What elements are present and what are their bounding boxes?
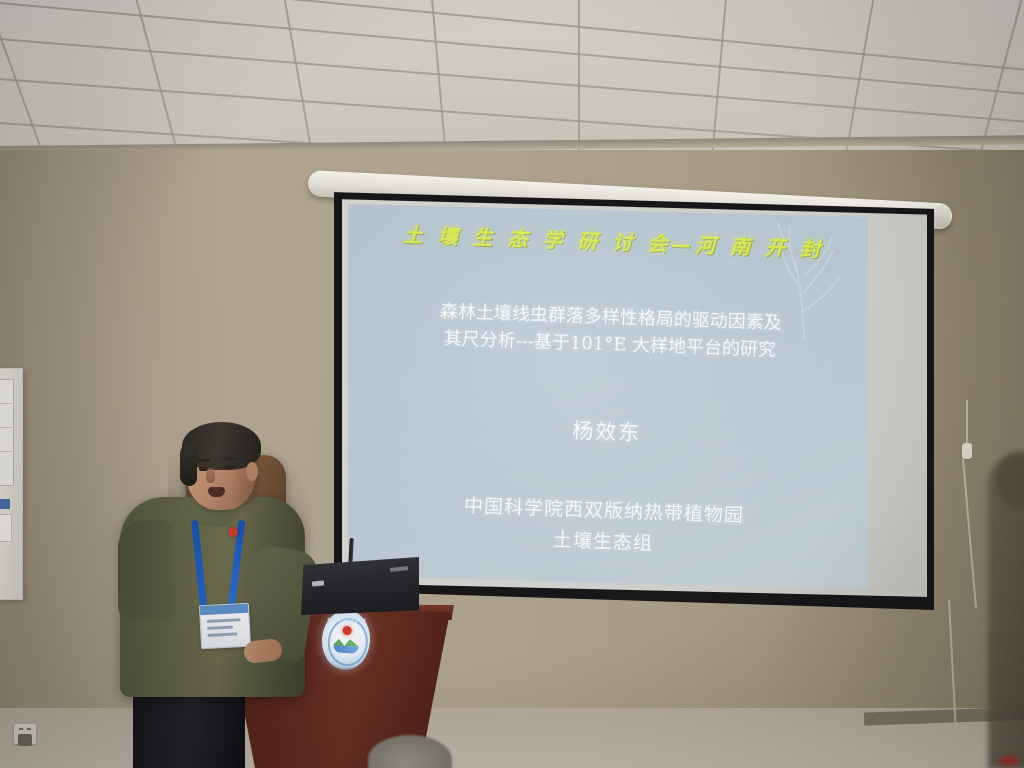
panel-line [0, 427, 12, 428]
floor-red-object [998, 756, 1020, 766]
speaker-left-shoulder [118, 520, 172, 620]
panel-line [0, 451, 12, 452]
speaker-mouth [208, 487, 225, 497]
cord-clip [962, 443, 972, 459]
badge-text-line [207, 626, 233, 630]
speaker-eye [225, 465, 234, 469]
slide-affiliation: 中国科学院西双版纳热带植物园 土壤生态组 [367, 488, 841, 566]
badge-header-band [200, 604, 248, 615]
speaker-hair-side [180, 444, 197, 486]
wall-control-panel[interactable] [0, 368, 23, 600]
slide-author-name: 杨效东 [348, 407, 867, 455]
lanyard-knot [228, 527, 238, 537]
outlet-slot [27, 728, 31, 730]
speaker-brow [224, 457, 236, 461]
panel-label-card [0, 514, 12, 542]
badge-text-line [207, 618, 241, 623]
power-outlet-icon [14, 724, 36, 744]
speaker-ear [246, 462, 258, 481]
projected-slide: 土 壤 生 态 学 研 讨 会—河 南 开 封 森林土壤线虫群落多样性格局的驱动… [348, 200, 868, 595]
presentation-room-photo: Ochenstiaa 土 壤 生 态 学 研 讨 会—河 南 开 封 森林土壤线… [0, 0, 1024, 768]
badge-text-line [207, 632, 237, 637]
speaker-nose [206, 468, 215, 483]
roller-end-cap [934, 205, 951, 228]
outlet-plug [18, 734, 32, 746]
panel-blue-badge [0, 499, 10, 509]
panel-window [0, 379, 14, 486]
panel-line [0, 403, 12, 404]
ceiling-grid-line [0, 18, 1024, 148]
conference-name-badge [199, 603, 251, 650]
outlet-slot [19, 728, 23, 730]
hanging-cord [966, 400, 968, 448]
